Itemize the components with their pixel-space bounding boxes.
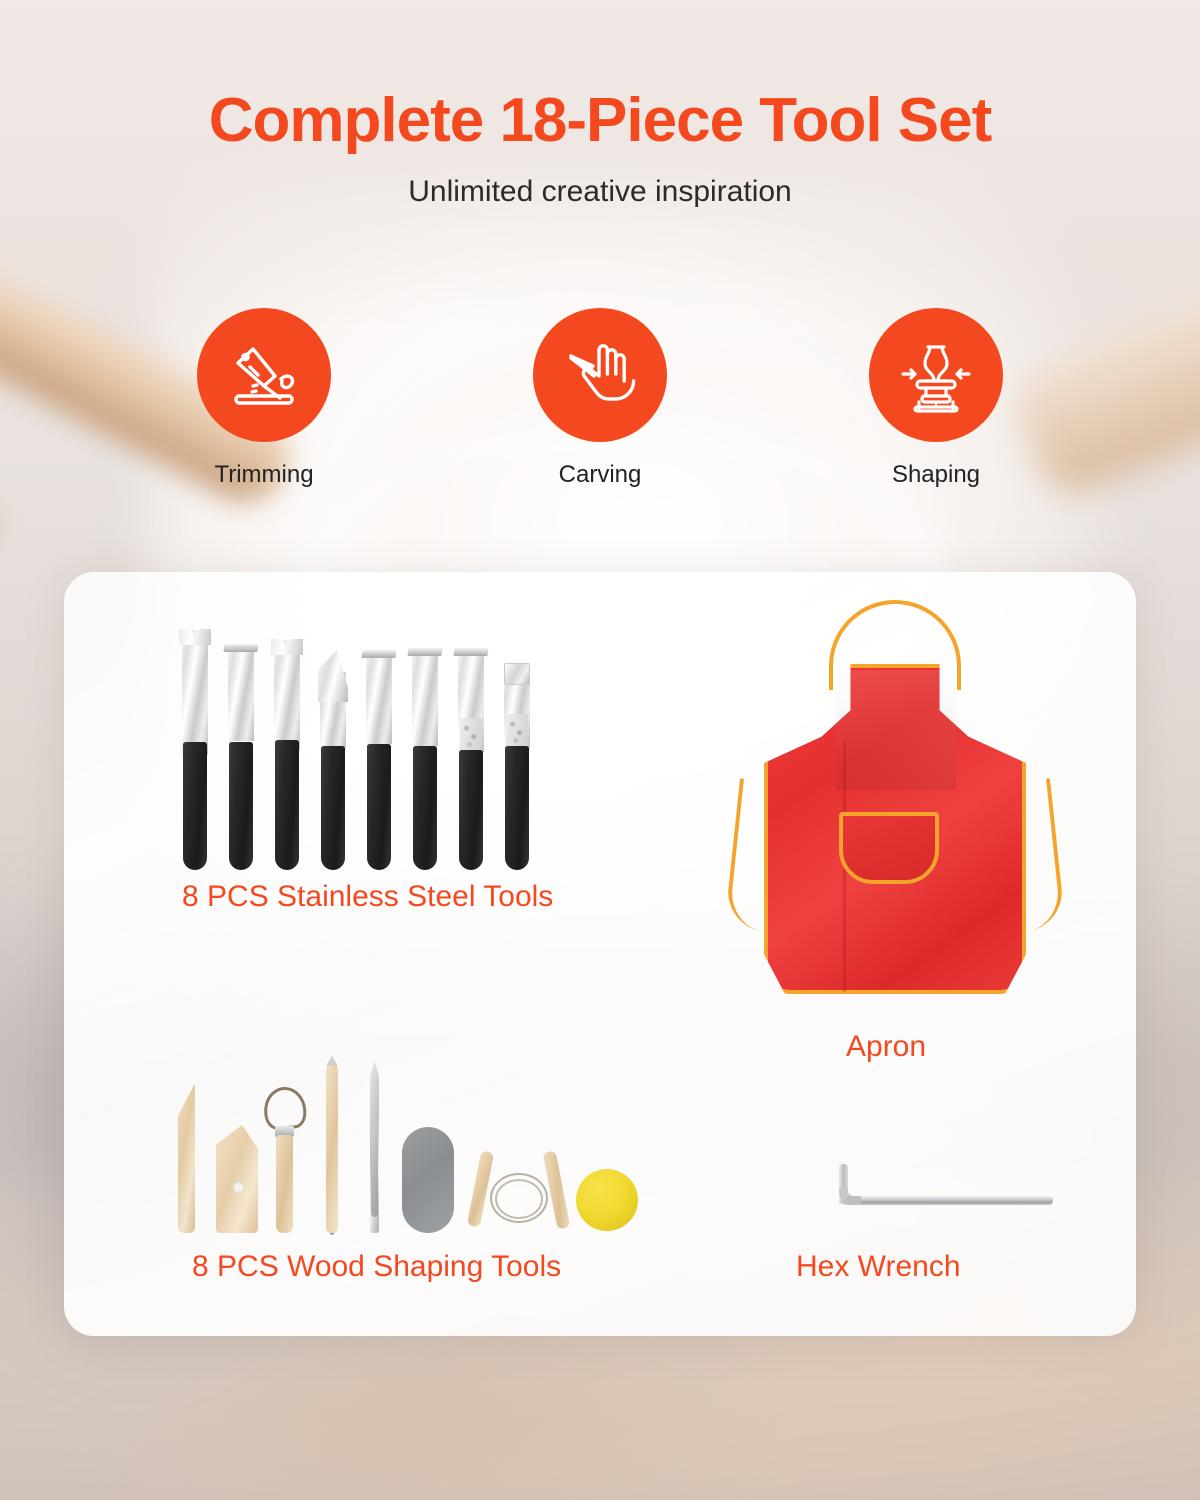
v-notch-tip [271, 639, 303, 655]
cup-scoop-tip [504, 663, 530, 685]
feature-label: Trimming [179, 461, 349, 489]
wood-tool-3-loop-wire [263, 1086, 308, 1131]
wood-tool-2-rib [216, 1125, 258, 1233]
page-subtitle: Unlimited creative inspiration [0, 175, 1200, 209]
feature-badge-list: Trimming Carving [0, 308, 1200, 489]
feature-trimming: Trimming [179, 308, 349, 489]
steel-tool-8 [504, 630, 530, 870]
flange-tip [407, 648, 442, 656]
wood-rib-hole [233, 1181, 244, 1192]
pointed-knife-tip [318, 650, 348, 702]
feature-badge-circle [533, 308, 667, 442]
flange-tip [223, 644, 258, 652]
feature-badge-circle [197, 308, 331, 442]
product-contents-card: 8 PCS Stainless Steel Tools Apron [64, 572, 1136, 1336]
wood-tool-1-pointed-knife [178, 1083, 195, 1233]
apron-group [724, 592, 1064, 1032]
steel-tool-row [182, 630, 582, 870]
clay-cutter-wire-inner [495, 1179, 543, 1219]
wood-tool-8-sponge [576, 1169, 638, 1231]
flange-tip [453, 648, 488, 656]
feature-shaping: Shaping [851, 308, 1021, 489]
page-title: Complete 18-Piece Tool Set [0, 88, 1200, 153]
hex-wrench-illustration [799, 1162, 1059, 1232]
steel-tool-5 [366, 630, 392, 870]
wood-shaping-tools-group [172, 1062, 592, 1237]
caption-stainless-steel-tools: 8 PCS Stainless Steel Tools [182, 880, 553, 914]
feature-badge-circle [869, 308, 1003, 442]
steel-tool-7 [458, 630, 484, 870]
hex-wrench-group [799, 1162, 1059, 1232]
product-feature-image: Complete 18-Piece Tool Set Unlimited cre… [0, 0, 1200, 1500]
caption-hex-wrench: Hex Wrench [796, 1250, 961, 1284]
feature-label: Shaping [851, 461, 1021, 489]
feature-carving: Carving [515, 308, 685, 489]
textured-tip-surface [460, 718, 482, 752]
wood-tool-4-ribbon-shaft [326, 1065, 338, 1233]
steel-tool-6 [412, 630, 438, 870]
trimming-blade-icon [223, 334, 305, 416]
steel-tool-4 [320, 630, 346, 870]
v-notch-tip [179, 629, 211, 645]
steel-tool-3 [274, 630, 300, 870]
wood-tool-7-cutter-handle-left [467, 1150, 494, 1227]
needle-tool-grip [371, 1125, 378, 1217]
flange-tip [361, 650, 396, 658]
carving-hand-knife-icon [559, 334, 641, 416]
shaping-vase-wheel-icon [895, 334, 977, 416]
caption-wood-shaping-tools: 8 PCS Wood Shaping Tools [192, 1250, 561, 1284]
stainless-steel-tools-group [182, 630, 582, 870]
wood-tool-3-loop-handle [276, 1135, 293, 1233]
header: Complete 18-Piece Tool Set Unlimited cre… [0, 0, 1200, 209]
steel-tool-2 [228, 630, 254, 870]
apron-front-pocket [839, 812, 939, 884]
feature-label: Carving [515, 461, 685, 489]
caption-apron: Apron [846, 1030, 926, 1064]
wood-tool-6-rubber-rib [402, 1127, 454, 1233]
steel-tool-1 [182, 630, 208, 870]
wood-tool-row [172, 1062, 592, 1237]
hex-wrench-long-arm [845, 1196, 1053, 1205]
apron-illustration [724, 592, 1064, 1032]
textured-tip-surface [506, 714, 528, 748]
